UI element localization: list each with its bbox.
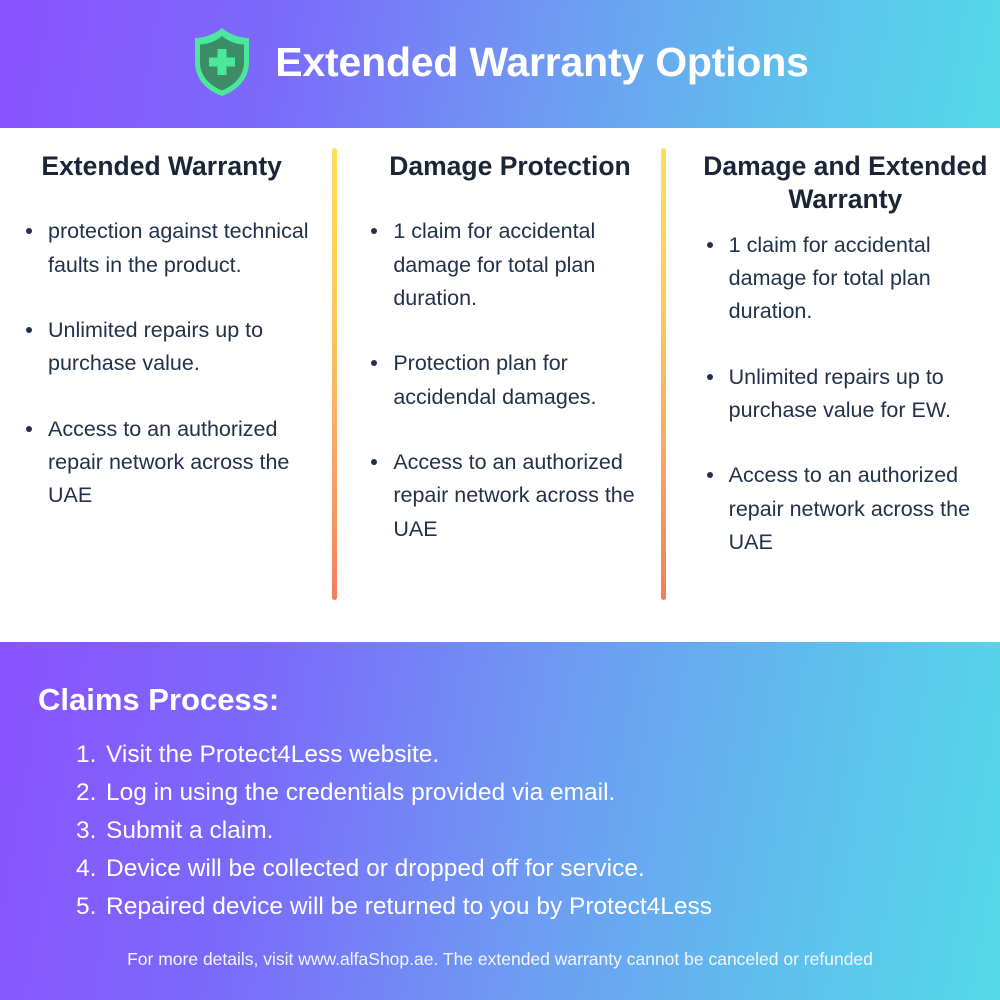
claims-step: Visit the Protect4Less website.	[76, 736, 974, 774]
plan-feature-item: 1 claim for accidental damage for total …	[703, 229, 988, 329]
plan-feature-item: Access to an authorized repair network a…	[367, 446, 652, 546]
plan-column-damage-and-extended-warranty: Damage and Extended Warranty 1 claim for…	[667, 150, 1000, 642]
plan-feature-item: Protection plan for accidendal damages.	[367, 347, 652, 414]
plan-feature-list: 1 claim for accidental damage for total …	[703, 229, 988, 560]
shield-health-icon	[191, 26, 253, 98]
plan-comparison: Extended Warranty protection against tec…	[0, 128, 1000, 642]
plan-title: Extended Warranty	[22, 150, 315, 183]
plan-column-extended-warranty: Extended Warranty protection against tec…	[0, 150, 333, 642]
claims-step: Log in using the credentials provided vi…	[76, 774, 974, 812]
plan-feature-item: 1 claim for accidental damage for total …	[367, 215, 652, 315]
claims-step: Submit a claim.	[76, 812, 974, 850]
plan-feature-item: Unlimited repairs up to purchase value.	[22, 314, 315, 381]
claims-step: Device will be collected or dropped off …	[76, 850, 974, 888]
plan-feature-item: protection against technical faults in t…	[22, 215, 315, 282]
plan-column-damage-protection: Damage Protection 1 claim for accidental…	[333, 150, 666, 642]
footer-fineprint: For more details, visit www.alfaShop.ae.…	[0, 949, 1000, 970]
warranty-infographic: Extended Warranty Options Extended Warra…	[0, 0, 1000, 1000]
claims-step: Repaired device will be returned to you …	[76, 888, 974, 926]
claims-process-steps: Visit the Protect4Less website. Log in u…	[38, 736, 974, 926]
claims-process-section: Claims Process: Visit the Protect4Less w…	[0, 642, 1000, 1000]
plan-title: Damage and Extended Warranty	[703, 150, 988, 217]
plan-feature-item: Access to an authorized repair network a…	[703, 459, 988, 559]
plan-title: Damage Protection	[367, 150, 652, 183]
page-title: Extended Warranty Options	[275, 39, 808, 86]
plan-feature-item: Access to an authorized repair network a…	[22, 413, 315, 513]
plan-feature-list: 1 claim for accidental damage for total …	[367, 215, 652, 546]
header-banner: Extended Warranty Options	[0, 0, 1000, 128]
plan-feature-list: protection against technical faults in t…	[22, 215, 315, 512]
plan-feature-item: Unlimited repairs up to purchase value f…	[703, 361, 988, 428]
claims-process-title: Claims Process:	[38, 682, 974, 718]
